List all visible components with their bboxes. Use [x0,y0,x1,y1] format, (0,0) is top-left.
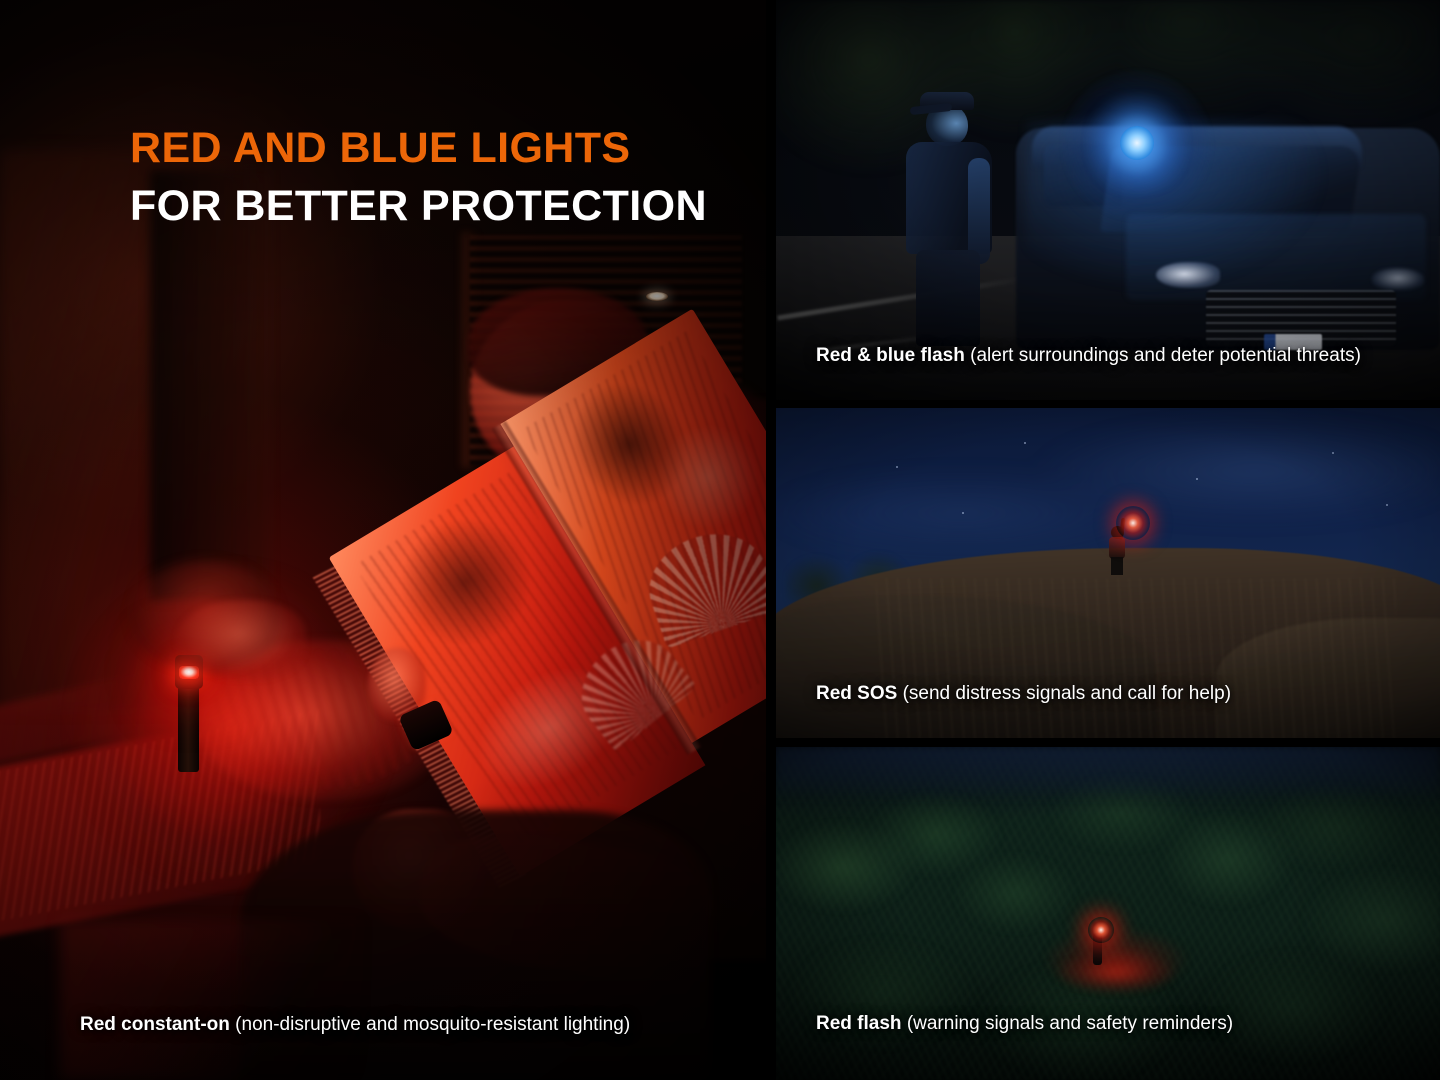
caption-mode-label: Red SOS [816,683,897,704]
product-feature-banner: RED AND BLUE LIGHTS FOR BETTER PROTECTIO… [0,0,1440,1080]
caption-mode-label: Red constant-on [80,1014,230,1035]
caption-mode-label: Red flash [816,1013,902,1034]
headline-line-1: RED AND BLUE LIGHTS [130,126,707,172]
caption-mode-label: Red & blue flash [816,345,965,366]
caption-red-blue-flash: Red & blue flash (alert surroundings and… [816,345,1361,368]
caption-description: (alert surroundings and deter potential … [970,345,1361,366]
caption-description: (send distress signals and call for help… [903,683,1231,704]
caption-description: (warning signals and safety reminders) [907,1013,1233,1034]
caption-description: (non-disruptive and mosquito-resistant l… [235,1014,630,1035]
vignette-overlay [776,0,1440,400]
caption-red-constant-on: Red constant-on (non-disruptive and mosq… [80,1014,630,1037]
headline-line-2: FOR BETTER PROTECTION [130,184,707,230]
caption-red-flash: Red flash (warning signals and safety re… [816,1013,1233,1036]
panel-red-blue-flash [776,0,1440,400]
scene-car-roadside-night [776,0,1440,400]
caption-red-sos: Red SOS (send distress signals and call … [816,683,1231,706]
headline: RED AND BLUE LIGHTS FOR BETTER PROTECTIO… [130,126,707,229]
